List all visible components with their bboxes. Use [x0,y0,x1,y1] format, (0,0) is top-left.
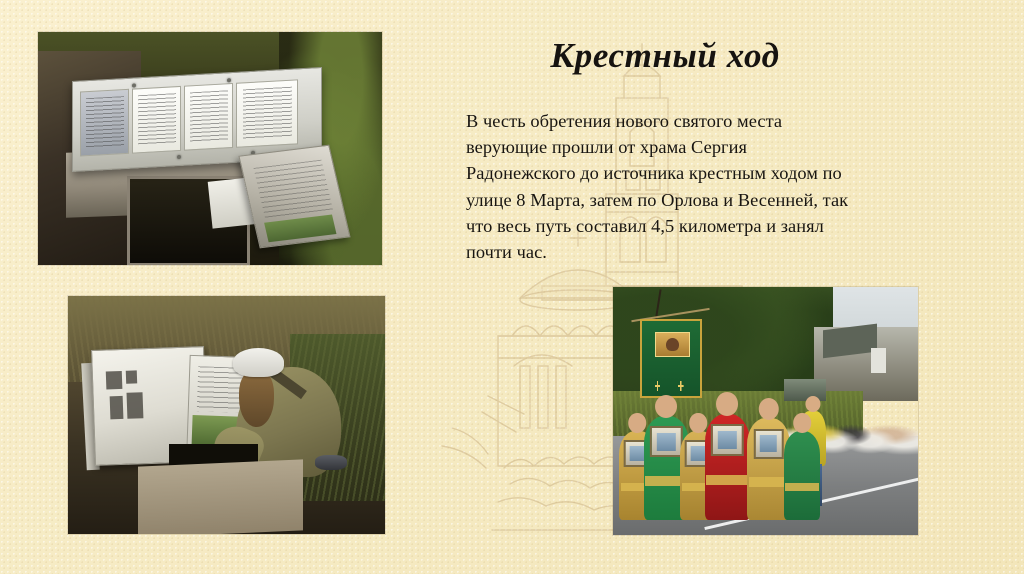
procession-banner-icon [640,319,702,397]
photo-spring-information-board: Бетонный колодец святого источника с инф… [38,32,382,265]
slide-root: Крестный ход В честь обретения нового св… [0,0,1024,574]
photo-religious-procession: Крестный ход: духовенство в зелёных, кра… [613,287,918,535]
slide-body-text: В честь обретения нового святого места в… [466,108,858,265]
slide-title: Крестный ход [455,36,875,76]
photo-woman-at-spring: Женщина в белой шляпе набирает воду у от… [68,296,385,534]
